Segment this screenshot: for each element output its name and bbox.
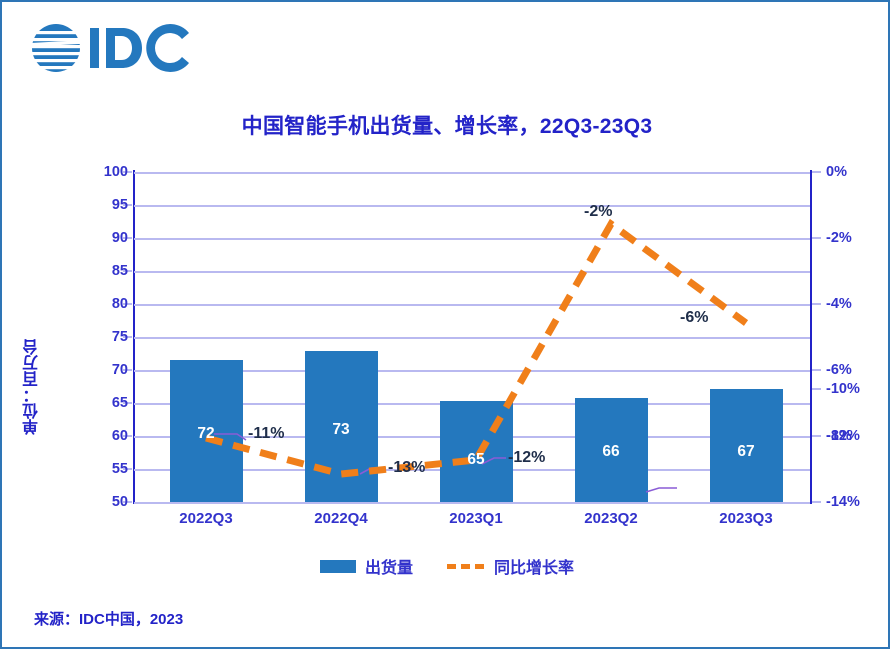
legend-dashed-line-swatch-icon	[447, 564, 485, 569]
y-left-tick-label: 100	[104, 164, 128, 180]
y-right-tick-label: 0%	[826, 164, 847, 180]
y-left-tick-label: 75	[112, 329, 128, 345]
chart-legend: 出货量 同比增长率	[2, 554, 890, 578]
y-left-tick-label: 70	[112, 362, 128, 378]
y-left-tick-label: 65	[112, 395, 128, 411]
axis-baseline: 50 -14%	[134, 502, 810, 504]
legend-label-growth-rate: 同比增长率	[494, 554, 574, 578]
y-axis-title: 单位：百万台	[18, 272, 48, 502]
legend-bar-swatch-icon	[320, 560, 356, 573]
x-tick-2022q4: 2022Q4	[314, 510, 367, 527]
y-left-tick-label: 90	[112, 230, 128, 246]
y-left-tick-label: 55	[112, 461, 128, 477]
growth-label-2023q2: -2%	[584, 203, 612, 221]
x-tick-2023q2: 2023Q2	[584, 510, 637, 527]
y-left-tick-label: 80	[112, 296, 128, 312]
y-right-tick-label: -2%	[826, 230, 852, 246]
y-right-tick-label: -6%	[826, 362, 852, 378]
right-axis-line	[810, 170, 812, 504]
growth-label-2023q3: -6%	[680, 309, 708, 327]
tick-stub	[812, 303, 821, 305]
y-right-tick-label: -12%	[826, 428, 860, 444]
leader-line-3	[482, 458, 506, 464]
plot-area: 100 0% 95 90 -2% 85 80 -4% 75	[134, 172, 810, 502]
bar-label-2023q3: 67	[737, 443, 754, 461]
page-title: 中国智能手机出货量、增长率，22Q3-23Q3	[2, 110, 890, 140]
tick-stub	[812, 435, 821, 437]
bar-label-2023q1: 65	[467, 451, 484, 469]
growth-label-2022q3: -11%	[248, 425, 284, 443]
x-tick-2023q1: 2023Q1	[449, 510, 502, 527]
chart-page: 中国智能手机出货量、增长率，22Q3-23Q3 单位：百万台 100 0% 95…	[0, 0, 890, 649]
bar-label-2022q4: 73	[332, 421, 349, 439]
y-left-tick-label: 85	[112, 263, 128, 279]
y-right-tick-label: -4%	[826, 296, 852, 312]
idc-globe-logo-icon	[30, 20, 210, 76]
x-tick-2023q3: 2023Q3	[719, 510, 772, 527]
legend-label-shipments: 出货量	[365, 554, 413, 578]
y-right-tick-label: -10%	[826, 381, 860, 397]
legend-item-growth-rate[interactable]: 同比增长率	[447, 554, 574, 578]
tick-stub	[812, 237, 821, 239]
growth-rate-polyline	[206, 224, 746, 474]
growth-label-2023q1: -12%	[508, 449, 545, 467]
x-tick-2022q3: 2022Q3	[179, 510, 232, 527]
y-left-tick-label: 50	[112, 494, 128, 510]
bar-label-2022q3: 72	[197, 425, 214, 443]
growth-label-2022q4: -13%	[388, 459, 425, 477]
tick-stub	[812, 171, 821, 173]
y-left-tick-label: 60	[112, 428, 128, 444]
source-note: 来源：IDC中国，2023	[34, 608, 183, 629]
legend-item-shipments[interactable]: 出货量	[320, 554, 413, 578]
leader-line-4	[646, 488, 677, 492]
y-right-tick-label: -14%	[826, 494, 860, 510]
tick-stub	[812, 369, 821, 371]
tick-stub	[812, 501, 821, 503]
tick-stub	[812, 388, 821, 390]
bar-label-2023q2: 66	[602, 443, 619, 461]
y-left-tick-label: 95	[112, 197, 128, 213]
